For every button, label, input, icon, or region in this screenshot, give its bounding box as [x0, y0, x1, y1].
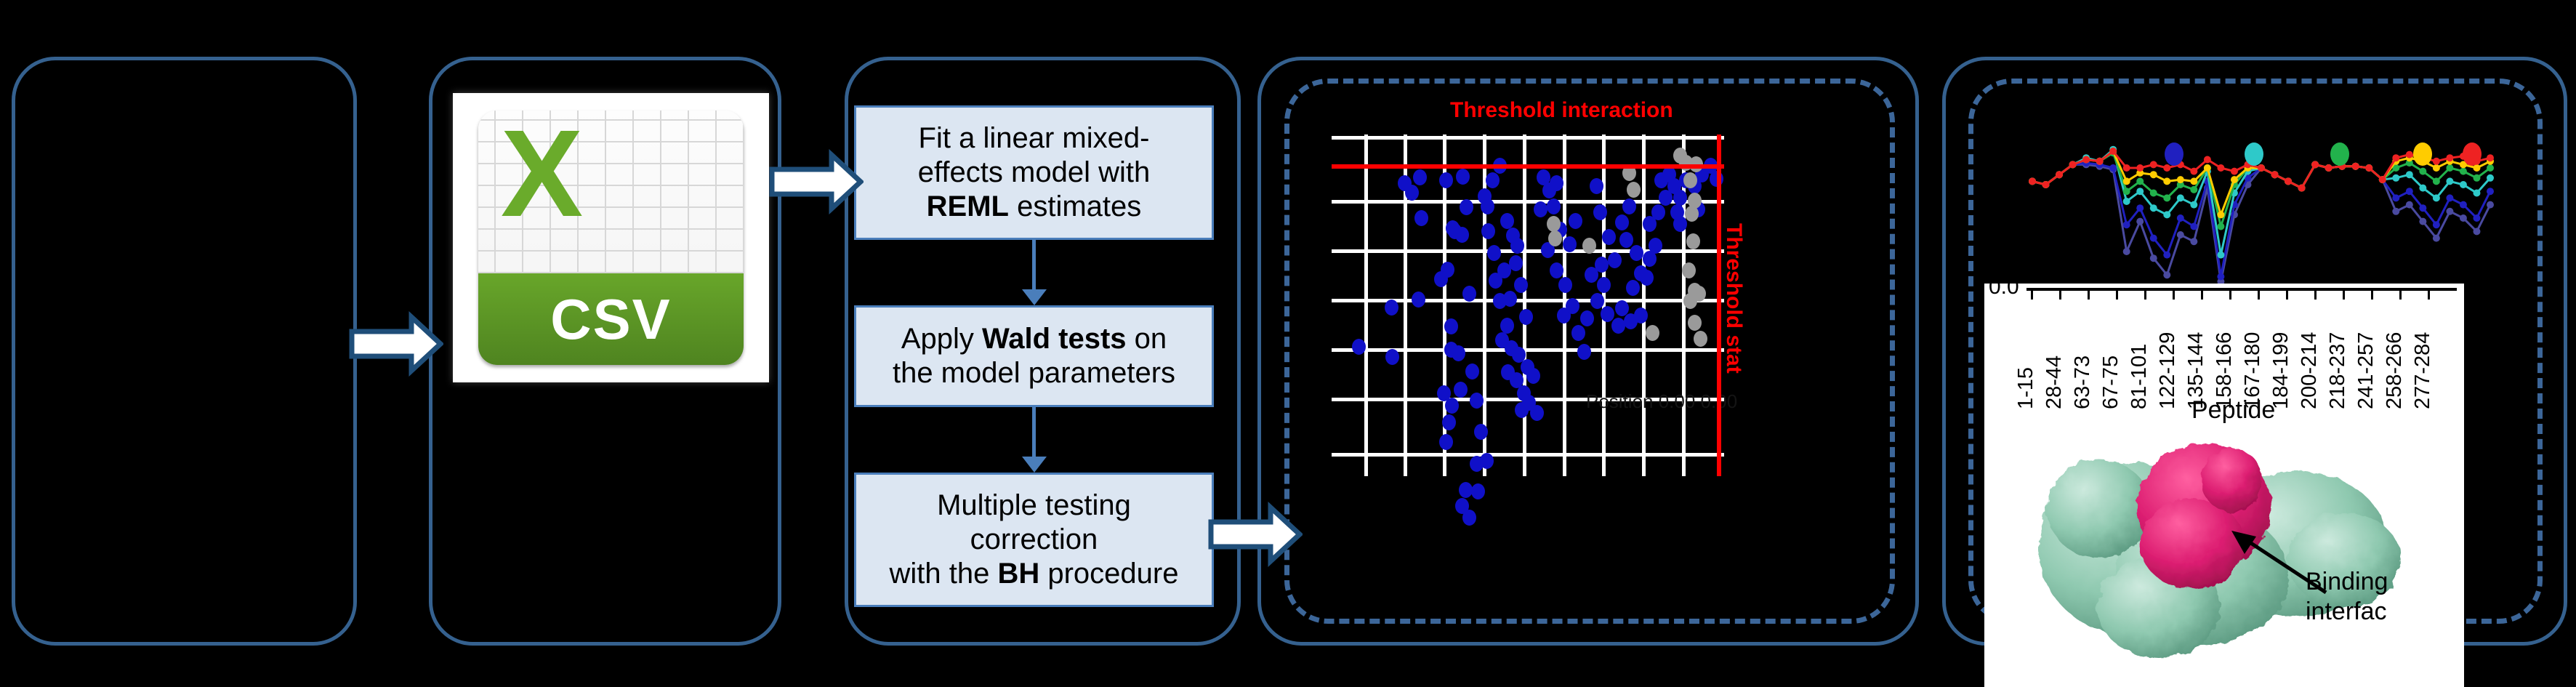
gridline-h	[1332, 453, 1724, 457]
chart-data-point	[2419, 185, 2426, 192]
mt-line3-post: procedure	[1039, 558, 1178, 590]
chart-data-point	[2177, 231, 2184, 238]
chart-data-point	[2487, 188, 2494, 195]
chart-data-point	[2109, 148, 2117, 155]
data-source-panel[interactable]	[12, 57, 357, 646]
connector-2-arrowhead	[1022, 457, 1047, 473]
wald-post: on	[1127, 323, 1167, 355]
chart-data-point	[2392, 154, 2399, 161]
threshold-line-vertical	[1717, 134, 1721, 476]
chart-data-point	[2163, 177, 2170, 185]
peptide-line-chart-svg	[1992, 109, 2500, 291]
connector-1	[1032, 240, 1036, 292]
chart-data-point	[2487, 174, 2494, 182]
chart-data-point	[2365, 164, 2372, 172]
fit-model-line1: Fit a linear mixed-	[919, 122, 1150, 154]
chart-data-point	[2190, 186, 2197, 193]
chart-data-point	[2460, 181, 2467, 188]
arrow-right-icon	[1208, 502, 1303, 567]
chart-data-point	[2433, 177, 2440, 185]
y-axis-zero-label: 0.0	[1989, 284, 2019, 300]
chart-data-point	[2163, 252, 2170, 259]
chart-data-point	[2231, 168, 2238, 175]
chart-data-point	[2056, 171, 2063, 178]
multiple-testing-step-text: Multiple testing correction with the BH …	[890, 489, 1179, 592]
chart-data-point	[2419, 218, 2426, 225]
x-tick-label: 28-44	[2042, 355, 2066, 409]
chart-data-point	[2406, 188, 2413, 195]
chart-data-point	[2258, 164, 2265, 172]
chart-data-point	[2123, 188, 2130, 195]
chart-data-point	[2446, 164, 2453, 172]
x-axis-tick-labels: 1-1528-4463-7367-7581-101122-129135-1441…	[2026, 304, 2463, 391]
x-tick-label: 258-266	[2383, 332, 2407, 409]
threshold-line-horizontal	[1332, 164, 1724, 169]
csv-icon-body: X CSV	[478, 111, 744, 365]
binding-interface-annotation: Binding interfac	[2306, 567, 2388, 627]
chart-data-point	[2446, 154, 2453, 161]
mt-line2: correction	[970, 523, 1098, 555]
gridline-h	[1332, 249, 1724, 253]
chart-data-point	[2163, 164, 2170, 172]
chart-data-point	[2123, 221, 2130, 228]
connector-2	[1032, 407, 1036, 459]
gridline-v	[1642, 134, 1646, 476]
chart-data-point	[2123, 164, 2130, 172]
wald-line2: the model parameters	[893, 357, 1175, 389]
chart-data-point	[2096, 158, 2104, 165]
chart-data-point	[2392, 194, 2399, 201]
volcano-plot[interactable]: Threshold interaction Threshold stat	[1301, 91, 1883, 527]
chart-data-point	[2177, 176, 2184, 183]
chart-data-point	[2136, 177, 2144, 185]
arrow-right-icon	[769, 149, 864, 214]
arrow-right-icon	[349, 311, 443, 377]
chart-data-point	[2177, 194, 2184, 201]
chart-data-point	[2419, 168, 2426, 175]
binding-interface-line2: interfac	[2306, 597, 2388, 627]
chart-data-point	[2150, 190, 2157, 197]
chart-data-point	[2163, 211, 2170, 218]
chart-data-point	[2123, 248, 2130, 255]
chart-data-point	[2150, 254, 2157, 262]
arrow-to-model	[769, 149, 864, 214]
chart-data-point	[2487, 201, 2494, 209]
chart-data-point	[2433, 235, 2440, 242]
chart-data-point	[2150, 204, 2157, 212]
chart-data-point	[2163, 194, 2170, 201]
chart-data-point	[2029, 177, 2036, 185]
chart-data-point	[2473, 214, 2480, 222]
wald-emphasis: Wald tests	[982, 323, 1127, 355]
chart-data-point	[2392, 174, 2399, 182]
legend-dot-2	[2245, 142, 2263, 166]
x-tick-label: 63-73	[2071, 355, 2095, 409]
chart-data-point	[2217, 211, 2224, 218]
fit-model-line2: effects model with	[918, 156, 1150, 188]
chart-data-point	[2190, 177, 2197, 185]
chart-data-point	[2473, 190, 2480, 197]
x-tick-label: 200-214	[2298, 332, 2322, 409]
x-axis-title: Peptide	[2191, 396, 2275, 425]
chart-data-point	[2433, 164, 2440, 172]
chart-data-point	[2446, 208, 2453, 215]
csv-file-icon: X CSV	[453, 93, 769, 382]
x-axis-ticks	[2026, 289, 2454, 301]
plot-faint-axis-text: Position 0.00 0.00	[1586, 390, 1737, 413]
arrow-to-results	[1208, 502, 1303, 567]
mt-line3-pre: with the	[890, 558, 998, 590]
x-tick-label: 1-15	[2014, 367, 2038, 409]
peptide-axis-structure-card: 0.0 1-1528-4463-7367-7581-101122-129135-…	[1984, 284, 2464, 687]
chart-data-point	[2069, 161, 2077, 168]
legend-dot-5	[2463, 142, 2482, 166]
chart-data-point	[2325, 164, 2333, 172]
threshold-interaction-label: Threshold interaction	[1450, 98, 1673, 123]
chart-data-point	[2150, 171, 2157, 178]
fit-model-step-text: Fit a linear mixed- effects model with R…	[918, 121, 1150, 225]
chart-data-point	[2150, 161, 2157, 168]
chart-data-point	[2460, 214, 2467, 222]
chart-data-point	[2190, 223, 2197, 230]
chart-data-point	[2419, 204, 2426, 212]
chart-data-point	[2392, 208, 2399, 215]
chart-data-point	[2446, 194, 2453, 201]
chart-data-point	[2136, 204, 2144, 212]
x-tick-label: 122-129	[2156, 332, 2180, 409]
csv-label: CSV	[478, 273, 744, 365]
chart-data-point	[2123, 198, 2130, 205]
chart-data-point	[2177, 214, 2184, 222]
chart-data-point	[2433, 158, 2440, 165]
legend-dot-3	[2330, 142, 2349, 166]
fit-model-step[interactable]: Fit a linear mixed- effects model with R…	[854, 105, 1214, 240]
chart-data-point	[2204, 156, 2211, 164]
mt-line1: Multiple testing	[937, 489, 1131, 521]
legend-dot-1	[2165, 142, 2183, 166]
chart-data-point	[2473, 228, 2480, 235]
x-tick-label: 218-237	[2326, 332, 2350, 409]
chart-data-point	[2446, 177, 2453, 185]
chart-data-point	[2285, 177, 2292, 185]
binding-interface-line1: Binding	[2306, 567, 2388, 597]
chart-data-point	[2406, 171, 2413, 178]
chart-data-point	[2217, 164, 2224, 172]
chart-data-point	[2406, 201, 2413, 209]
x-tick-label: 67-75	[2099, 355, 2123, 409]
chart-data-point	[2042, 181, 2050, 188]
plot-grid-area: Position 0.00 0.00	[1332, 134, 1724, 476]
chart-data-point	[2406, 151, 2413, 158]
chart-data-point	[2311, 161, 2319, 168]
chart-data-point	[2460, 168, 2467, 175]
chart-data-point	[2231, 176, 2238, 183]
legend-dot-4	[2413, 142, 2432, 166]
chart-data-point	[2190, 168, 2197, 175]
threshold-statistic-label: Threshold stat	[1721, 223, 1746, 374]
chart-data-point	[2217, 252, 2224, 259]
chart-data-point	[2190, 201, 2197, 209]
connector-1-arrowhead	[1022, 289, 1047, 305]
wald-tests-step-text: Apply Wald tests on the model parameters	[893, 322, 1175, 390]
chart-data-point	[2190, 238, 2197, 245]
fit-model-line3-rest: estimates	[1009, 190, 1141, 222]
chart-data-point	[2082, 156, 2090, 164]
chart-data-point	[2271, 171, 2279, 178]
chart-data-point	[2433, 194, 2440, 201]
chart-data-point	[2136, 188, 2144, 195]
chart-data-point	[2487, 154, 2494, 161]
chart-data-point	[2298, 185, 2306, 192]
chart-data-point	[2379, 176, 2386, 183]
chart-data-point	[2352, 163, 2359, 170]
chart-data-point	[2123, 177, 2130, 185]
bh-emphasis: BH	[997, 558, 1039, 590]
chart-data-point	[2217, 223, 2224, 230]
chart-data-point	[2473, 174, 2480, 182]
chart-data-point	[2204, 164, 2211, 172]
chart-data-point	[2136, 218, 2144, 225]
gridline-v	[1523, 134, 1526, 476]
x-tick-label: 81-101	[2128, 344, 2152, 409]
multiple-testing-step[interactable]: Multiple testing correction with the BH …	[854, 473, 1214, 607]
peptide-line-chart[interactable]	[1992, 109, 2500, 291]
chart-data-point	[2136, 164, 2144, 172]
chart-data-point	[2150, 235, 2157, 242]
chart-data-point	[2217, 273, 2224, 281]
chart-data-point	[2460, 201, 2467, 209]
chart-data-point	[2109, 164, 2117, 172]
gridline-h	[1332, 136, 1724, 140]
chart-data-point	[2163, 271, 2170, 278]
chart-data-point	[2433, 221, 2440, 228]
excel-x-icon: X	[488, 113, 595, 235]
arrow-to-csv	[349, 311, 443, 377]
gridline-v	[1364, 134, 1368, 476]
x-tick-label: 277-284	[2411, 332, 2435, 409]
chart-data-point	[2487, 164, 2494, 172]
reml-emphasis: REML	[927, 190, 1009, 222]
wald-pre: Apply	[901, 323, 982, 355]
wald-tests-step[interactable]: Apply Wald tests on the model parameters	[854, 305, 1214, 407]
x-tick-label: 241-257	[2354, 332, 2378, 409]
